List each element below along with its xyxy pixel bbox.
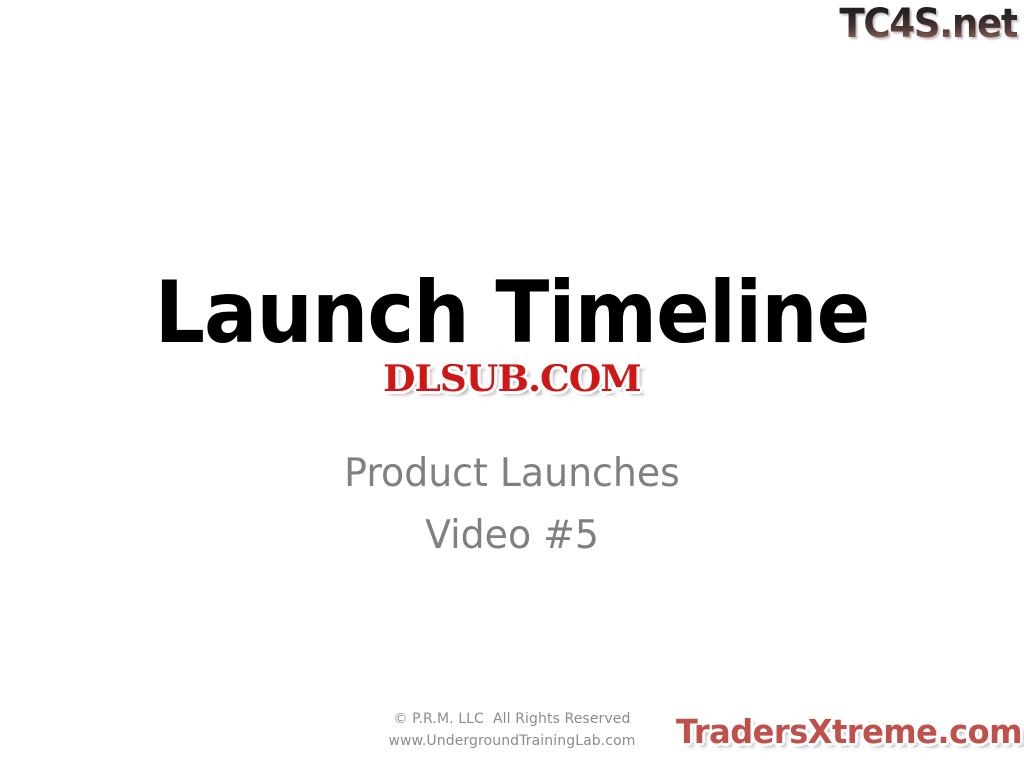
subtitle-block: Product Launches Video #5 (0, 443, 1024, 567)
subtitle-line-video-number: Video #5 (15, 505, 1008, 567)
tc4s-logo-watermark: TC4S.net (839, 2, 1017, 46)
page-title: Launch Timeline (41, 268, 983, 358)
dlsub-watermark-container: DLSUB.COM (0, 359, 1024, 399)
dlsub-logo-watermark: DLSUB.COM (383, 359, 641, 399)
title-block: Launch Timeline (0, 268, 1024, 358)
subtitle-line-product-launches: Product Launches (15, 443, 1008, 505)
tradersxtreme-logo-watermark: TradersXtreme.com (676, 713, 1022, 751)
presentation-slide: TC4S.net Launch Timeline DLSUB.COM Produ… (0, 0, 1024, 768)
